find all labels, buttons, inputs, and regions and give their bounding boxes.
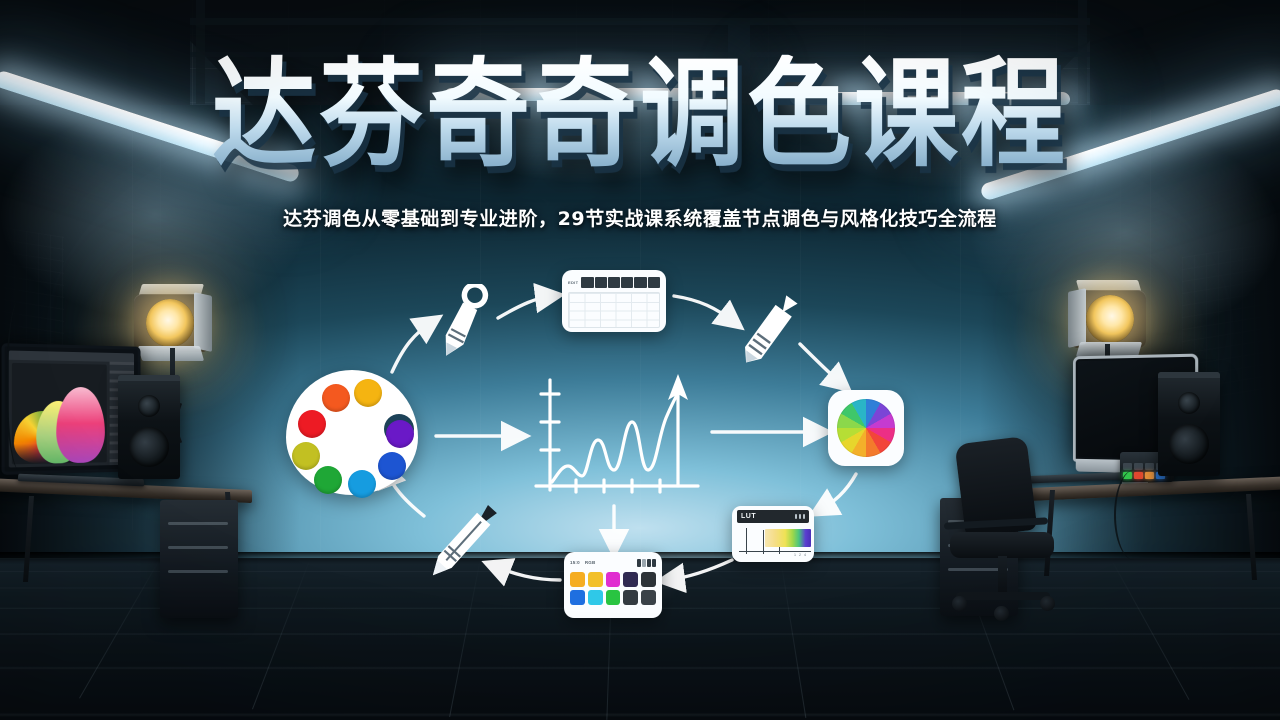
palette-well-purple <box>386 420 414 448</box>
header-cell <box>608 277 620 288</box>
pencil-loop-icon <box>424 284 508 374</box>
lut-footnote: 1 2 4 <box>794 553 807 557</box>
palette-well-red <box>298 410 326 438</box>
lut-axis-horizontal <box>739 551 811 552</box>
lut-tick <box>799 514 801 519</box>
swatch-cell <box>623 572 638 587</box>
palette-well-olive <box>292 442 320 470</box>
lamp-lens <box>146 299 194 347</box>
lut-gradient-strip <box>765 529 811 547</box>
cabinet-drawer-handle <box>168 522 228 525</box>
lut-title: LUT <box>741 513 756 520</box>
paint-palette-icon <box>286 370 418 495</box>
swatch-cell <box>641 590 656 605</box>
swatch-cell <box>606 572 621 587</box>
curve-chart-icon <box>532 366 704 514</box>
color-wheel-icon <box>828 390 904 466</box>
ceiling-beam <box>0 18 1280 25</box>
swatch-cell <box>641 572 656 587</box>
header-cell <box>621 277 633 288</box>
control-key[interactable] <box>1145 463 1154 470</box>
studio-monitor-speaker-right <box>1158 372 1220 476</box>
node-grid-icon: EDIT <box>562 270 666 332</box>
barn-door-side <box>194 292 212 352</box>
header-bar <box>637 559 641 567</box>
swatch-label-left: 15:0 <box>570 560 580 565</box>
chair-caster <box>1040 596 1055 611</box>
speaker-woofer <box>129 427 169 467</box>
swatch-cell <box>588 590 603 605</box>
grid-card-matrix <box>568 292 660 328</box>
color-swatch-grid-icon: 15:0 RGB <box>564 552 662 618</box>
header-cell <box>648 277 660 288</box>
cable <box>6 300 32 470</box>
header-bar <box>647 559 651 567</box>
lut-header: LUT <box>737 510 809 523</box>
pencil-icon <box>726 288 812 374</box>
control-key[interactable] <box>1123 463 1132 470</box>
palette-well-blue <box>378 452 406 480</box>
swatch-cell <box>623 590 638 605</box>
header-bar <box>652 559 656 567</box>
curve-series <box>552 390 680 482</box>
swatch-row <box>570 572 656 587</box>
speaker-top <box>118 375 180 381</box>
grid-card-header: EDIT <box>568 276 660 288</box>
swatch-label-right: RGB <box>585 560 596 565</box>
cabinet-drawer-handle <box>168 546 228 549</box>
palette-well-cyan <box>348 470 376 498</box>
lut-tick <box>795 514 797 519</box>
palette-well-amber <box>354 379 382 407</box>
swatch-cell <box>570 590 585 605</box>
chair-base <box>956 592 1050 600</box>
office-chair <box>944 440 1070 630</box>
swatch-cell <box>570 572 585 587</box>
pen-icon <box>414 494 508 594</box>
swatch-cell <box>606 590 621 605</box>
speaker-tweeter <box>138 395 160 417</box>
swatch-row <box>570 590 656 605</box>
control-key[interactable] <box>1134 463 1143 470</box>
speaker-woofer <box>1169 424 1209 464</box>
page-title-container: 达芬奇奇调色课程 <box>0 62 1280 166</box>
drawer-cabinet-left <box>160 500 238 618</box>
grid-card-tag: EDIT <box>568 280 578 285</box>
lut-panel-icon: LUT 1 2 4 <box>732 506 814 562</box>
swatch-header-bars <box>637 559 656 567</box>
swatch-rows <box>570 572 656 605</box>
header-cell <box>634 277 646 288</box>
color-wheel-disc <box>837 399 895 457</box>
speaker-top <box>1158 372 1220 378</box>
gamut-blob <box>56 387 105 464</box>
header-cell <box>595 277 607 288</box>
chair-caster <box>994 606 1009 621</box>
page-subtitle: 达芬调色从零基础到专业进阶，29节实战课系统覆盖节点调色与风格化技巧全流程 <box>0 204 1280 231</box>
control-key-orange[interactable] <box>1145 472 1154 479</box>
lut-curve-area: 1 2 4 <box>737 526 809 557</box>
swatch-cell <box>588 572 603 587</box>
chair-seat <box>950 532 1054 558</box>
lut-header-ticks <box>795 514 805 519</box>
header-cell <box>581 277 593 288</box>
lut-tick <box>803 514 805 519</box>
studio-monitor-speaker-left <box>118 375 180 479</box>
palette-well-orange <box>322 384 350 412</box>
page-title: 达芬奇奇调色课程 <box>212 55 1068 174</box>
barn-door-side <box>1068 288 1086 348</box>
poster-canvas: 达芬奇奇调色课程 达芬调色从零基础到专业进阶，29节实战课系统覆盖节点调色与风格… <box>0 0 1280 720</box>
speaker-tweeter <box>1178 392 1200 414</box>
cable <box>1114 470 1154 560</box>
chair-caster <box>952 596 967 611</box>
cabinet-drawer-handle <box>168 570 228 573</box>
grid-card-header-cells <box>581 277 660 288</box>
lamp-lens <box>1086 295 1134 343</box>
palette-well-green <box>314 466 342 494</box>
header-bar <box>642 559 646 567</box>
swatch-card-header: 15:0 RGB <box>570 557 656 568</box>
